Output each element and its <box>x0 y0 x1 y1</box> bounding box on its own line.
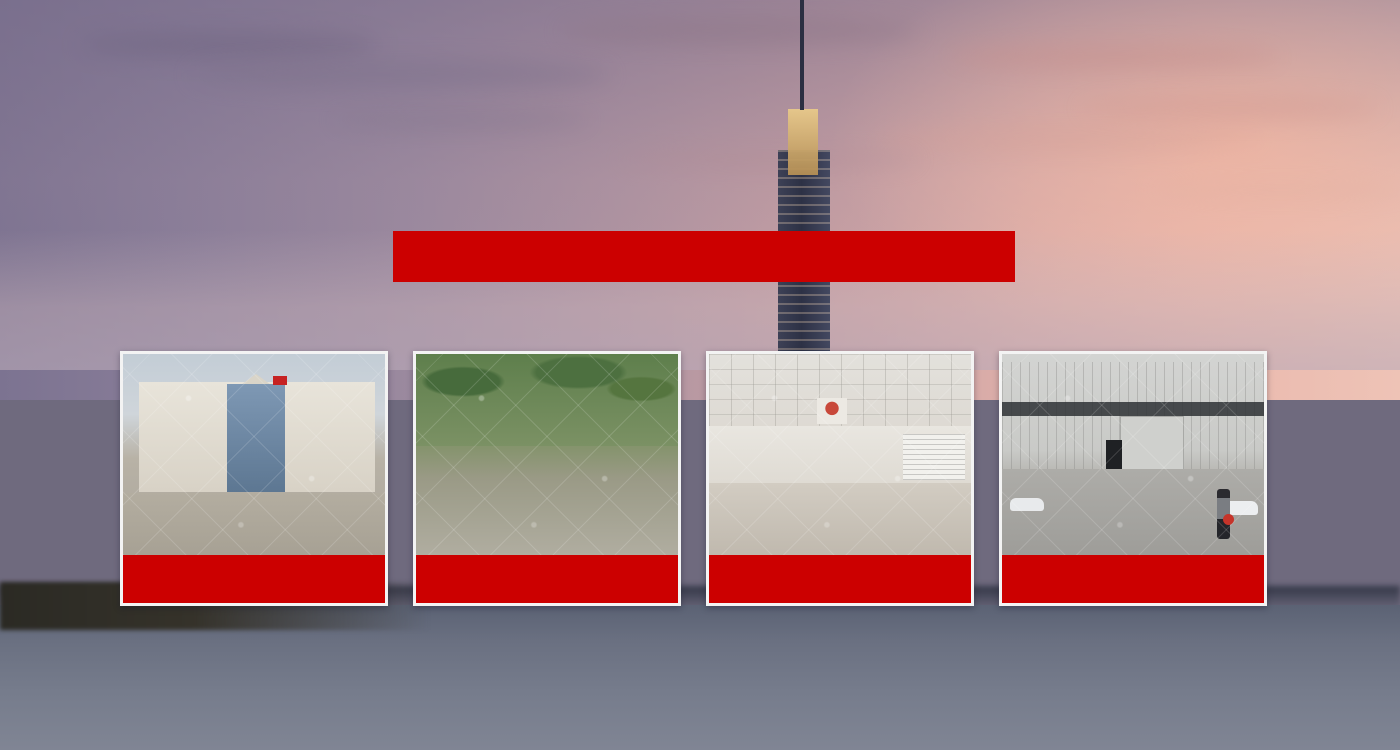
feature-card[interactable] <box>706 351 974 606</box>
factory-window-band <box>1002 402 1264 416</box>
parked-car <box>1010 498 1044 511</box>
tower-antenna <box>800 0 804 110</box>
courtyard <box>123 493 385 555</box>
aerial-production-plant-photo <box>416 354 678 555</box>
wall-logo <box>817 398 847 424</box>
flag-icon <box>273 376 287 385</box>
green-fields <box>416 354 678 446</box>
subtitle-banner <box>393 231 1015 282</box>
feature-card[interactable] <box>999 351 1267 606</box>
tower-crown <box>788 109 818 175</box>
office-interior-photo <box>709 354 971 555</box>
red-helmet-icon <box>1223 514 1234 525</box>
feature-card-row <box>120 351 1280 606</box>
card-caption <box>123 555 385 603</box>
window-blinds <box>903 434 965 480</box>
feature-card[interactable] <box>413 351 681 606</box>
company-office-building-photo <box>123 354 385 555</box>
glass-atrium <box>227 384 285 492</box>
promo-banner <box>0 0 1400 750</box>
factory-workers-training-photo <box>1002 354 1264 555</box>
card-caption <box>709 555 971 603</box>
card-caption <box>416 555 678 603</box>
card-caption <box>1002 555 1264 603</box>
factory-roller-door <box>1120 416 1184 476</box>
office-floor <box>709 483 971 555</box>
feature-card[interactable] <box>120 351 388 606</box>
